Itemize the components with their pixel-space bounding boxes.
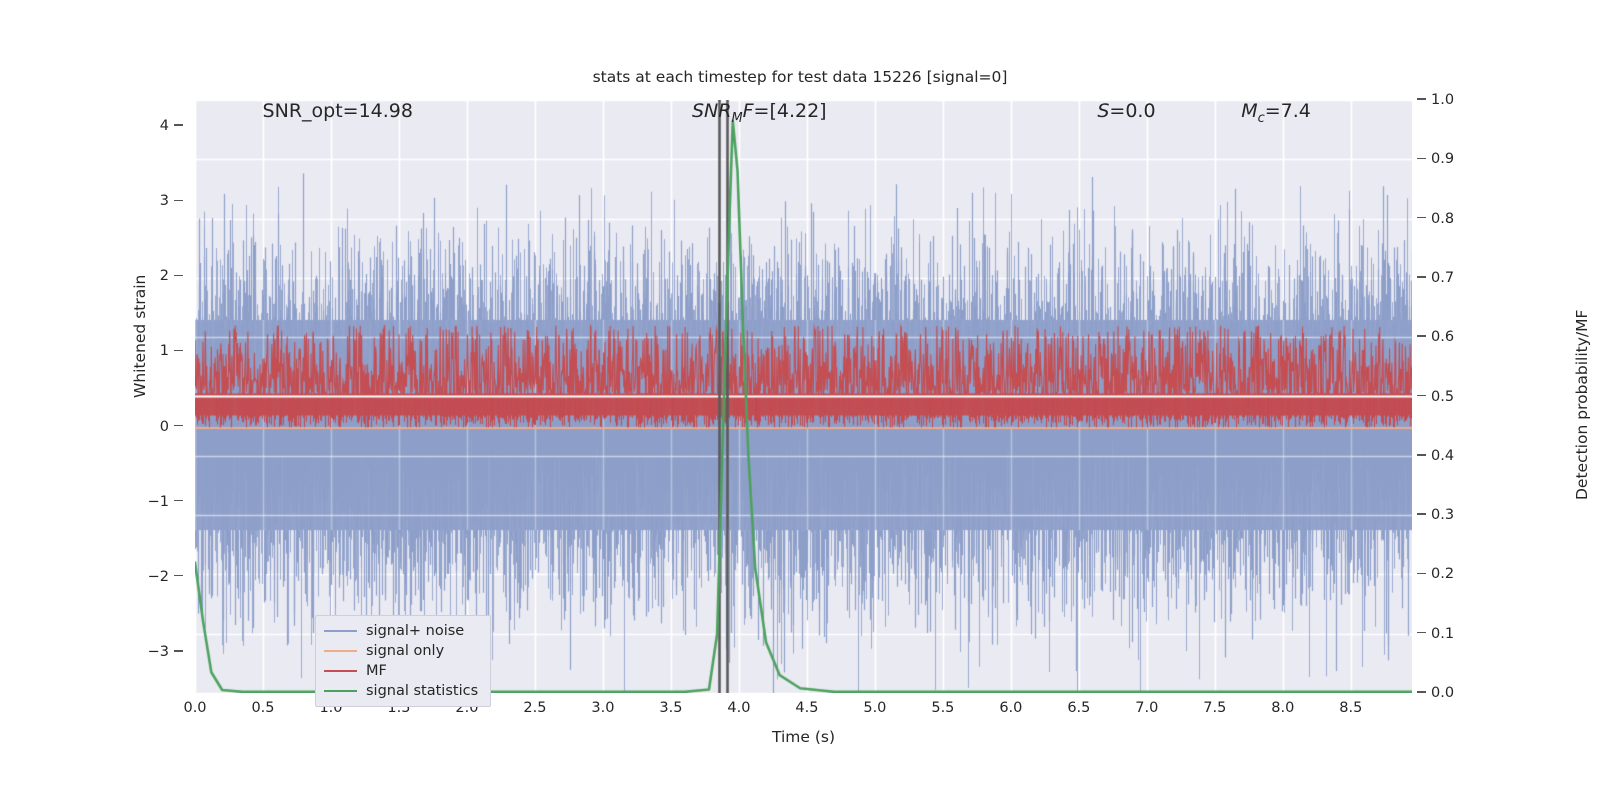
annotation-snr-opt: SNR_opt=14.98 [263, 100, 413, 122]
figure: stats at each timestep for test data 152… [0, 0, 1600, 800]
y-tick-left: 3 [160, 193, 183, 209]
y-tick-right: 0.1 [1417, 626, 1454, 642]
x-tick: 7.0 [1135, 700, 1158, 716]
y-tick-right: 1.0 [1417, 92, 1454, 108]
y-tick-left: 4 [160, 118, 183, 134]
y-tick-right: 0.2 [1417, 566, 1454, 582]
y-axis-label-right: Detection probability/MF [1573, 310, 1591, 500]
x-tick: 5.5 [931, 700, 954, 716]
y-tick-right: 0.3 [1417, 507, 1454, 523]
y-tick-left: 0 [160, 419, 183, 435]
legend-label: MF [366, 663, 387, 679]
y-tick-right: 0.6 [1417, 329, 1454, 345]
x-tick: 0.0 [183, 700, 206, 716]
plot-axes [195, 100, 1412, 693]
legend-item: MF [316, 661, 490, 681]
x-tick: 0.5 [251, 700, 274, 716]
x-tick: 2.5 [523, 700, 546, 716]
x-tick: 7.5 [1203, 700, 1226, 716]
plot-canvas [195, 100, 1412, 693]
annotation-mchirp: Mc=7.4 [1241, 100, 1311, 126]
x-tick: 6.5 [1067, 700, 1090, 716]
y-tick-left: 2 [160, 268, 183, 284]
annotation-snr-mf: SNRMF=[4.22] [692, 100, 827, 126]
legend-item: signal statistics [316, 681, 490, 701]
legend: signal+ noisesignal onlyMFsignal statist… [315, 615, 491, 707]
y-tick-right: 0.9 [1417, 151, 1454, 167]
y-tick-right: 0.0 [1417, 685, 1454, 701]
legend-label: signal only [366, 643, 444, 659]
y-tick-left: 1 [160, 343, 183, 359]
legend-label: signal statistics [366, 683, 478, 699]
legend-item: signal only [316, 641, 490, 661]
y-tick-right: 0.8 [1417, 211, 1454, 227]
legend-swatch-line [324, 630, 357, 632]
y-tick-left: −1 [148, 494, 183, 510]
legend-swatch-line [324, 650, 357, 652]
x-tick: 8.5 [1339, 700, 1362, 716]
y-axis-label-left: Whitened strain [131, 275, 149, 398]
y-tick-right: 0.4 [1417, 448, 1454, 464]
annotation-s-stat: S=0.0 [1097, 100, 1155, 122]
x-tick: 8.0 [1271, 700, 1294, 716]
x-tick: 3.5 [659, 700, 682, 716]
x-tick: 4.0 [727, 700, 750, 716]
y-tick-left: −3 [148, 644, 183, 660]
x-axis-label: Time (s) [195, 728, 1412, 746]
x-tick: 6.0 [999, 700, 1022, 716]
legend-item: signal+ noise [316, 621, 490, 641]
chart-title: stats at each timestep for test data 152… [0, 68, 1600, 86]
legend-label: signal+ noise [366, 623, 464, 639]
y-tick-right: 0.5 [1417, 389, 1454, 405]
y-tick-right: 0.7 [1417, 270, 1454, 286]
legend-swatch-line [324, 690, 357, 692]
legend-swatch-line [324, 670, 357, 672]
y-tick-left: −2 [148, 569, 183, 585]
x-tick: 5.0 [863, 700, 886, 716]
x-tick: 3.0 [591, 700, 614, 716]
x-tick: 4.5 [795, 700, 818, 716]
